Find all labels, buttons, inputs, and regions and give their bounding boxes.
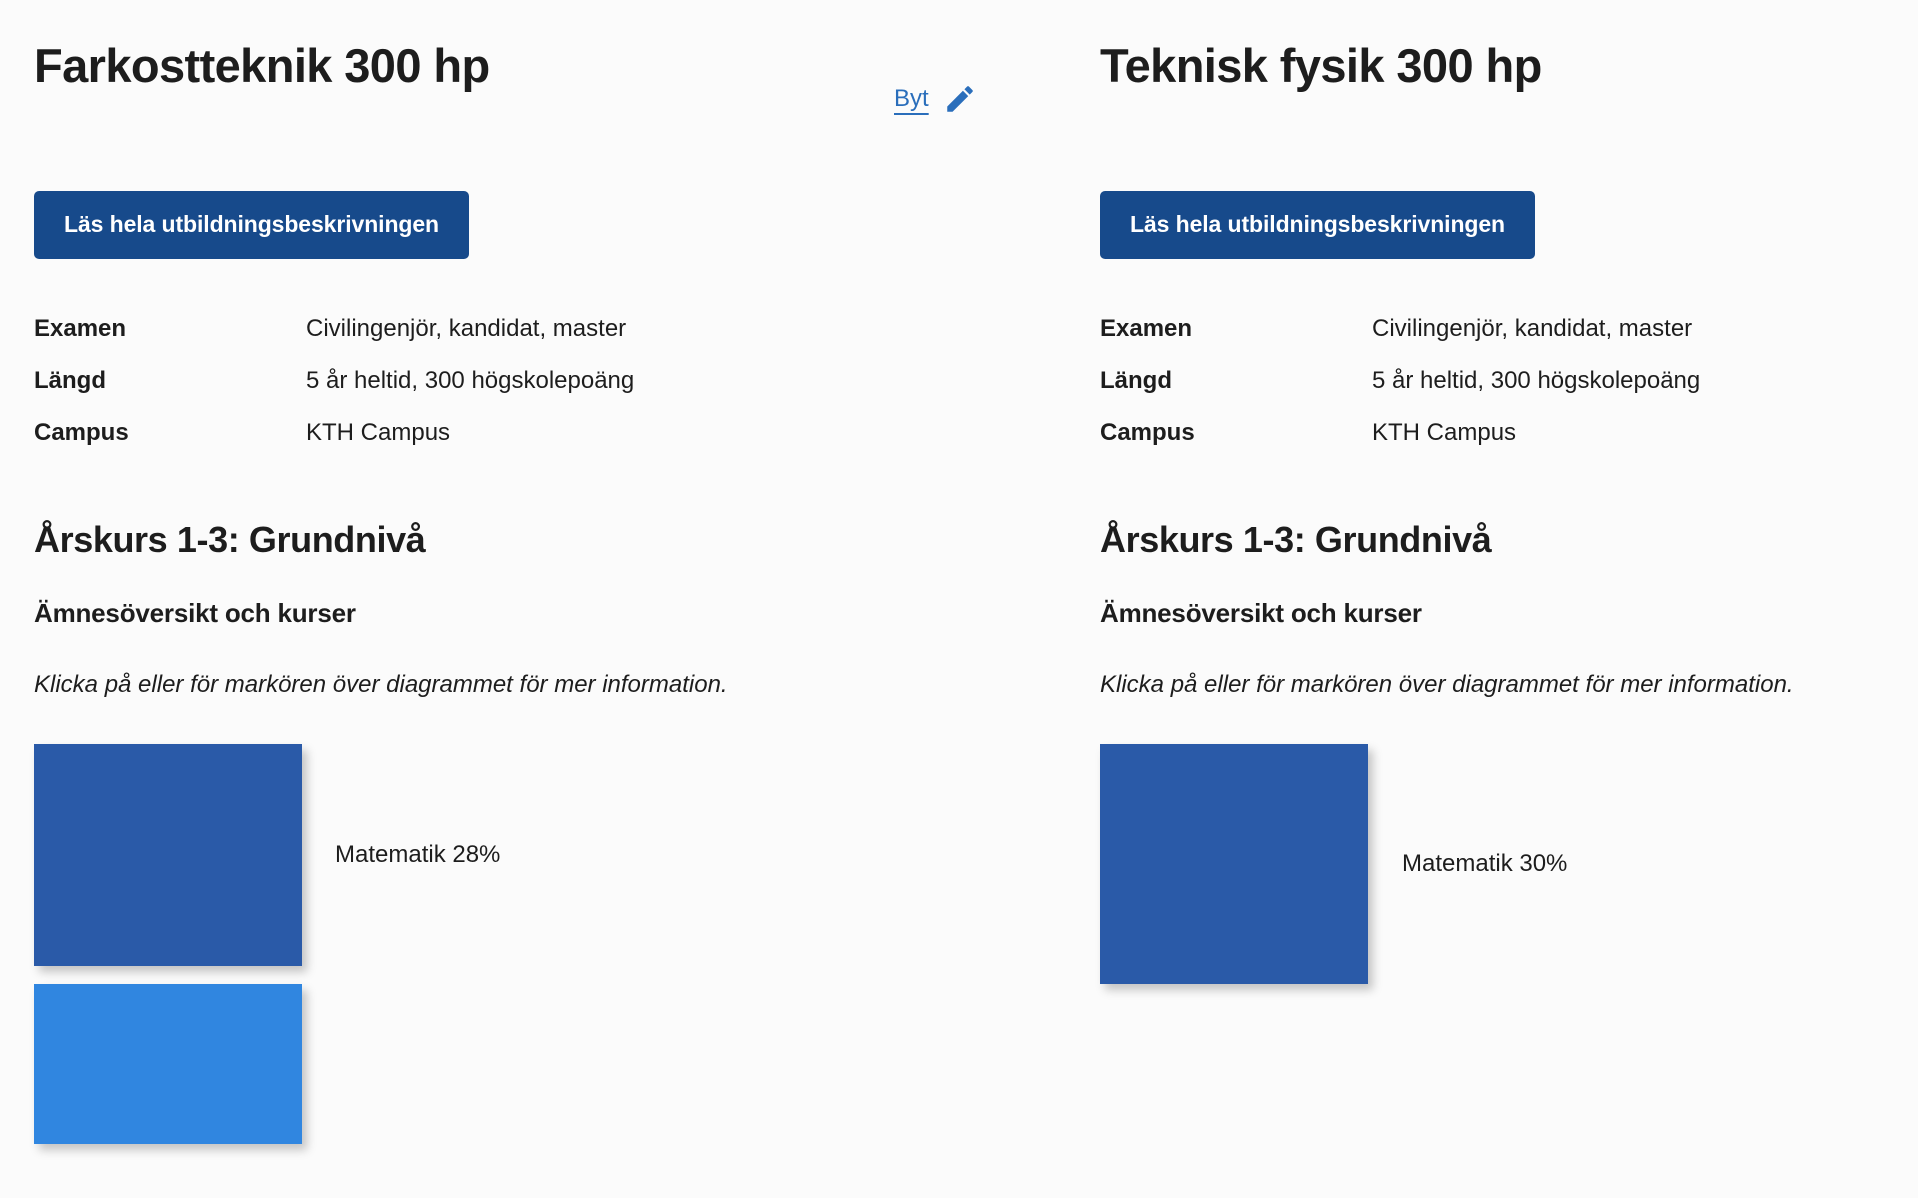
bar-row — [34, 984, 1064, 1144]
pencil-icon[interactable] — [943, 82, 977, 116]
program-column-right: Teknisk fysik 300 hp Läs hela utbildning… — [1064, 0, 1918, 1198]
fact-row-campus: Campus KTH Campus — [1100, 419, 1918, 471]
section-heading-arskurs: Årskurs 1-3: Grundnivå — [1100, 519, 1918, 561]
program-comparison-view: Farkostteknik 300 hp Byt Läs hela utbild… — [0, 0, 1918, 1198]
fact-label-langd: Längd — [34, 367, 306, 395]
fact-value-langd: 5 år heltid, 300 högskolepoäng — [1372, 367, 1700, 395]
swap-program-link[interactable]: Byt — [894, 87, 929, 111]
subsection-heading-amnesoversikt: Ämnesöversikt och kurser — [34, 598, 1064, 629]
program-header-right: Teknisk fysik 300 hp — [1100, 0, 1918, 132]
fact-row-langd: Längd 5 år heltid, 300 högskolepoäng — [34, 367, 914, 419]
fact-value-examen: Civilingenjör, kandidat, master — [306, 315, 626, 343]
program-facts-left: Examen Civilingenjör, kandidat, master L… — [34, 315, 914, 471]
bar-segment-matematik[interactable] — [34, 744, 302, 966]
bar-segment-secondary[interactable] — [34, 984, 302, 1144]
program-facts-right: Examen Civilingenjör, kandidat, master L… — [1100, 315, 1918, 471]
program-column-left: Farkostteknik 300 hp Byt Läs hela utbild… — [0, 0, 1064, 1198]
fact-value-campus: KTH Campus — [1372, 419, 1516, 447]
fact-label-examen: Examen — [34, 315, 306, 343]
fact-value-examen: Civilingenjör, kandidat, master — [1372, 315, 1692, 343]
swap-program-control[interactable]: Byt — [894, 82, 977, 116]
fact-row-examen: Examen Civilingenjör, kandidat, master — [34, 315, 914, 367]
bar-label-matematik: Matematik 30% — [1368, 850, 1567, 878]
fact-row-langd: Längd 5 år heltid, 300 högskolepoäng — [1100, 367, 1918, 419]
subject-bar-chart-left: Matematik 28% — [34, 744, 1064, 1144]
fact-label-campus: Campus — [1100, 419, 1372, 447]
fact-row-examen: Examen Civilingenjör, kandidat, master — [1100, 315, 1918, 367]
bar-row: Matematik 30% — [1100, 744, 1918, 984]
bar-label-matematik: Matematik 28% — [302, 841, 500, 869]
subsection-heading-amnesoversikt: Ämnesöversikt och kurser — [1100, 598, 1918, 629]
fact-value-campus: KTH Campus — [306, 419, 450, 447]
bar-segment-matematik[interactable] — [1100, 744, 1368, 984]
program-header-left: Farkostteknik 300 hp Byt — [34, 0, 1064, 132]
fact-label-campus: Campus — [34, 419, 306, 447]
bar-row: Matematik 28% — [34, 744, 1064, 966]
read-full-description-button[interactable]: Läs hela utbildningsbeskrivningen — [34, 191, 469, 259]
fact-label-examen: Examen — [1100, 315, 1372, 343]
page-title: Farkostteknik 300 hp — [34, 0, 490, 132]
read-full-description-button[interactable]: Läs hela utbildningsbeskrivningen — [1100, 191, 1535, 259]
section-heading-arskurs: Årskurs 1-3: Grundnivå — [34, 519, 1064, 561]
fact-value-langd: 5 år heltid, 300 högskolepoäng — [306, 367, 634, 395]
page-title: Teknisk fysik 300 hp — [1100, 0, 1542, 132]
fact-row-campus: Campus KTH Campus — [34, 419, 914, 471]
chart-hint-text: Klicka på eller för markören över diagra… — [34, 671, 1064, 699]
chart-hint-text: Klicka på eller för markören över diagra… — [1100, 671, 1918, 699]
fact-label-langd: Längd — [1100, 367, 1372, 395]
subject-bar-chart-right: Matematik 30% — [1100, 744, 1918, 984]
